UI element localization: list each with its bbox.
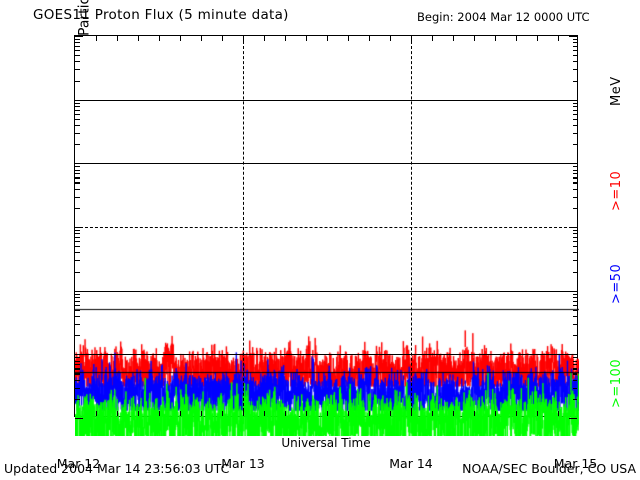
x-minor-tick (117, 411, 118, 416)
y-minor-tick (75, 133, 80, 134)
x-minor-tick (306, 36, 307, 41)
x-minor-tick (495, 411, 496, 416)
y-minor-tick (573, 144, 578, 145)
y-axis-title: Particles cm-2s-1sr-1 (75, 0, 93, 36)
y-major-tick (569, 100, 577, 101)
y-minor-tick (573, 324, 578, 325)
y-minor-tick (75, 357, 80, 358)
begin-time-label: Begin: 2004 Mar 12 0000 UTC (417, 10, 590, 24)
y-minor-tick (75, 305, 80, 306)
y-minor-tick (75, 399, 80, 400)
x-minor-tick (96, 411, 97, 416)
x-minor-tick (138, 36, 139, 41)
x-major-tick (243, 36, 244, 44)
x-minor-tick (369, 411, 370, 416)
y-minor-tick (573, 106, 578, 107)
y-minor-tick (573, 177, 578, 178)
y-major-tick (75, 227, 83, 228)
x-minor-tick (222, 36, 223, 41)
y-major-tick (569, 291, 577, 292)
y-minor-tick (573, 110, 578, 111)
page-title: GOES11 Proton Flux (5 minute data) (33, 7, 289, 23)
y-major-tick (75, 354, 83, 355)
y-minor-tick (75, 61, 80, 62)
y-major-tick (75, 100, 83, 101)
y-minor-tick (75, 173, 80, 174)
x-minor-tick (327, 411, 328, 416)
y-minor-tick (573, 46, 578, 47)
y-minor-tick (573, 357, 578, 358)
y-major-tick (569, 36, 577, 37)
y-minor-tick (75, 316, 80, 317)
y-minor-tick (573, 170, 578, 171)
y-minor-tick (573, 260, 578, 261)
y-major-tick (75, 291, 83, 292)
y-minor-tick (573, 297, 578, 298)
x-major-tick (411, 408, 412, 416)
y-minor-tick (75, 324, 80, 325)
x-minor-tick (348, 36, 349, 41)
chart-plot-area: Particles cm-2s-1sr-1 10⁴10³10²10¹10⁰10⁻… (74, 35, 578, 417)
x-minor-tick (285, 36, 286, 41)
legend-unit-mev: MeV (609, 76, 624, 106)
y-minor-tick (75, 42, 80, 43)
x-minor-tick (495, 36, 496, 41)
x-minor-tick (180, 411, 181, 416)
source-credit: NOAA/SEC Boulder, CO USA (462, 461, 636, 476)
y-minor-tick (573, 114, 578, 115)
gridline-h (75, 100, 577, 101)
gridline-h (75, 291, 577, 292)
y-minor-tick (75, 182, 80, 183)
y-minor-tick (75, 50, 80, 51)
gridline-h (75, 354, 577, 355)
x-tick-label: Mar 14 (389, 456, 432, 471)
x-minor-tick (537, 411, 538, 416)
y-minor-tick (573, 233, 578, 234)
y-minor-tick (75, 166, 80, 167)
y-minor-tick (573, 103, 578, 104)
x-minor-tick (96, 36, 97, 41)
x-minor-tick (327, 36, 328, 41)
x-minor-tick (537, 36, 538, 41)
x-minor-tick (369, 36, 370, 41)
x-axis-title: Universal Time (75, 436, 577, 450)
x-minor-tick (264, 36, 265, 41)
y-minor-tick (75, 260, 80, 261)
y-minor-tick (75, 81, 80, 82)
y-minor-tick (573, 81, 578, 82)
x-minor-tick (516, 411, 517, 416)
y-minor-tick (75, 297, 80, 298)
y-minor-tick (573, 335, 578, 336)
y-minor-tick (573, 380, 578, 381)
x-minor-tick (474, 36, 475, 41)
y-minor-tick (75, 368, 80, 369)
y-minor-tick (573, 197, 578, 198)
x-minor-tick (138, 411, 139, 416)
x-minor-tick (264, 411, 265, 416)
x-minor-tick (390, 411, 391, 416)
x-minor-tick (117, 36, 118, 41)
y-minor-tick (573, 310, 578, 311)
y-minor-tick (573, 125, 578, 126)
y-minor-tick (75, 241, 80, 242)
updated-timestamp: Updated 2004 Mar 14 23:56:03 UTC (4, 461, 229, 476)
y-minor-tick (573, 316, 578, 317)
y-minor-tick (573, 133, 578, 134)
x-minor-tick (432, 411, 433, 416)
x-minor-tick (159, 36, 160, 41)
y-minor-tick (75, 125, 80, 126)
gridline-v-day-boundary (411, 36, 412, 416)
y-minor-tick (573, 208, 578, 209)
x-minor-tick (453, 36, 454, 41)
gridline-h (75, 227, 577, 228)
gridline-v-day-boundary (243, 36, 244, 416)
y-minor-tick (75, 237, 80, 238)
y-minor-tick (75, 380, 80, 381)
y-minor-tick (75, 272, 80, 273)
y-major-tick (75, 163, 83, 164)
y-minor-tick (75, 208, 80, 209)
y-minor-tick (75, 230, 80, 231)
x-minor-tick (558, 411, 559, 416)
y-minor-tick (573, 364, 578, 365)
y-major-tick (569, 354, 577, 355)
y-minor-tick (75, 69, 80, 70)
x-minor-tick (432, 36, 433, 41)
y-minor-tick (75, 364, 80, 365)
x-minor-tick (474, 411, 475, 416)
x-minor-tick (348, 411, 349, 416)
x-minor-tick (306, 411, 307, 416)
x-minor-tick (285, 411, 286, 416)
x-minor-tick (390, 36, 391, 41)
y-minor-tick (573, 252, 578, 253)
y-minor-tick (573, 246, 578, 247)
y-minor-tick (75, 361, 80, 362)
y-minor-tick (75, 55, 80, 56)
y-minor-tick (75, 39, 80, 40)
y-minor-tick (75, 233, 80, 234)
y-minor-tick (573, 42, 578, 43)
y-minor-tick (75, 310, 80, 311)
y-minor-tick (573, 294, 578, 295)
y-major-tick (569, 163, 577, 164)
y-minor-tick (75, 189, 80, 190)
y-minor-tick (573, 61, 578, 62)
legend-item-50-mev: >=50 (609, 264, 624, 304)
y-major-tick (75, 418, 83, 419)
y-minor-tick (75, 197, 80, 198)
x-minor-tick (222, 411, 223, 416)
y-minor-tick (75, 252, 80, 253)
y-major-tick (75, 36, 83, 37)
y-minor-tick (75, 106, 80, 107)
y-major-tick (569, 227, 577, 228)
y-minor-tick (75, 373, 80, 374)
x-minor-tick (453, 411, 454, 416)
y-minor-tick (75, 294, 80, 295)
x-major-tick (243, 408, 244, 416)
x-minor-tick (516, 36, 517, 41)
y-minor-tick (573, 368, 578, 369)
legend-item-100-mev: >=100 (609, 359, 624, 408)
y-minor-tick (75, 119, 80, 120)
y-minor-tick (75, 114, 80, 115)
y-minor-tick (573, 237, 578, 238)
gridline-h (75, 163, 577, 164)
y-minor-tick (573, 301, 578, 302)
y-minor-tick (75, 388, 80, 389)
y-minor-tick (75, 103, 80, 104)
legend-item-10-mev: >=10 (609, 171, 624, 211)
y-minor-tick (75, 301, 80, 302)
y-minor-tick (573, 50, 578, 51)
y-minor-tick (573, 39, 578, 40)
y-minor-tick (75, 110, 80, 111)
y-minor-tick (75, 177, 80, 178)
y-minor-tick (573, 373, 578, 374)
y-minor-tick (573, 399, 578, 400)
chart-gridlines (75, 36, 577, 416)
y-minor-tick (75, 246, 80, 247)
y-minor-tick (573, 241, 578, 242)
y-minor-tick (573, 189, 578, 190)
y-minor-tick (573, 388, 578, 389)
y-minor-tick (573, 272, 578, 273)
x-major-tick (411, 36, 412, 44)
y-minor-tick (573, 305, 578, 306)
y-minor-tick (75, 170, 80, 171)
y-minor-tick (573, 69, 578, 70)
y-minor-tick (75, 46, 80, 47)
y-minor-tick (573, 173, 578, 174)
y-minor-tick (573, 166, 578, 167)
y-minor-tick (573, 361, 578, 362)
y-minor-tick (75, 144, 80, 145)
y-minor-tick (573, 55, 578, 56)
x-minor-tick (558, 36, 559, 41)
x-minor-tick (159, 411, 160, 416)
x-minor-tick (180, 36, 181, 41)
y-minor-tick (573, 119, 578, 120)
x-minor-tick (201, 411, 202, 416)
y-minor-tick (75, 335, 80, 336)
y-minor-tick (573, 182, 578, 183)
y-minor-tick (573, 230, 578, 231)
x-minor-tick (201, 36, 202, 41)
y-major-tick (569, 418, 577, 419)
